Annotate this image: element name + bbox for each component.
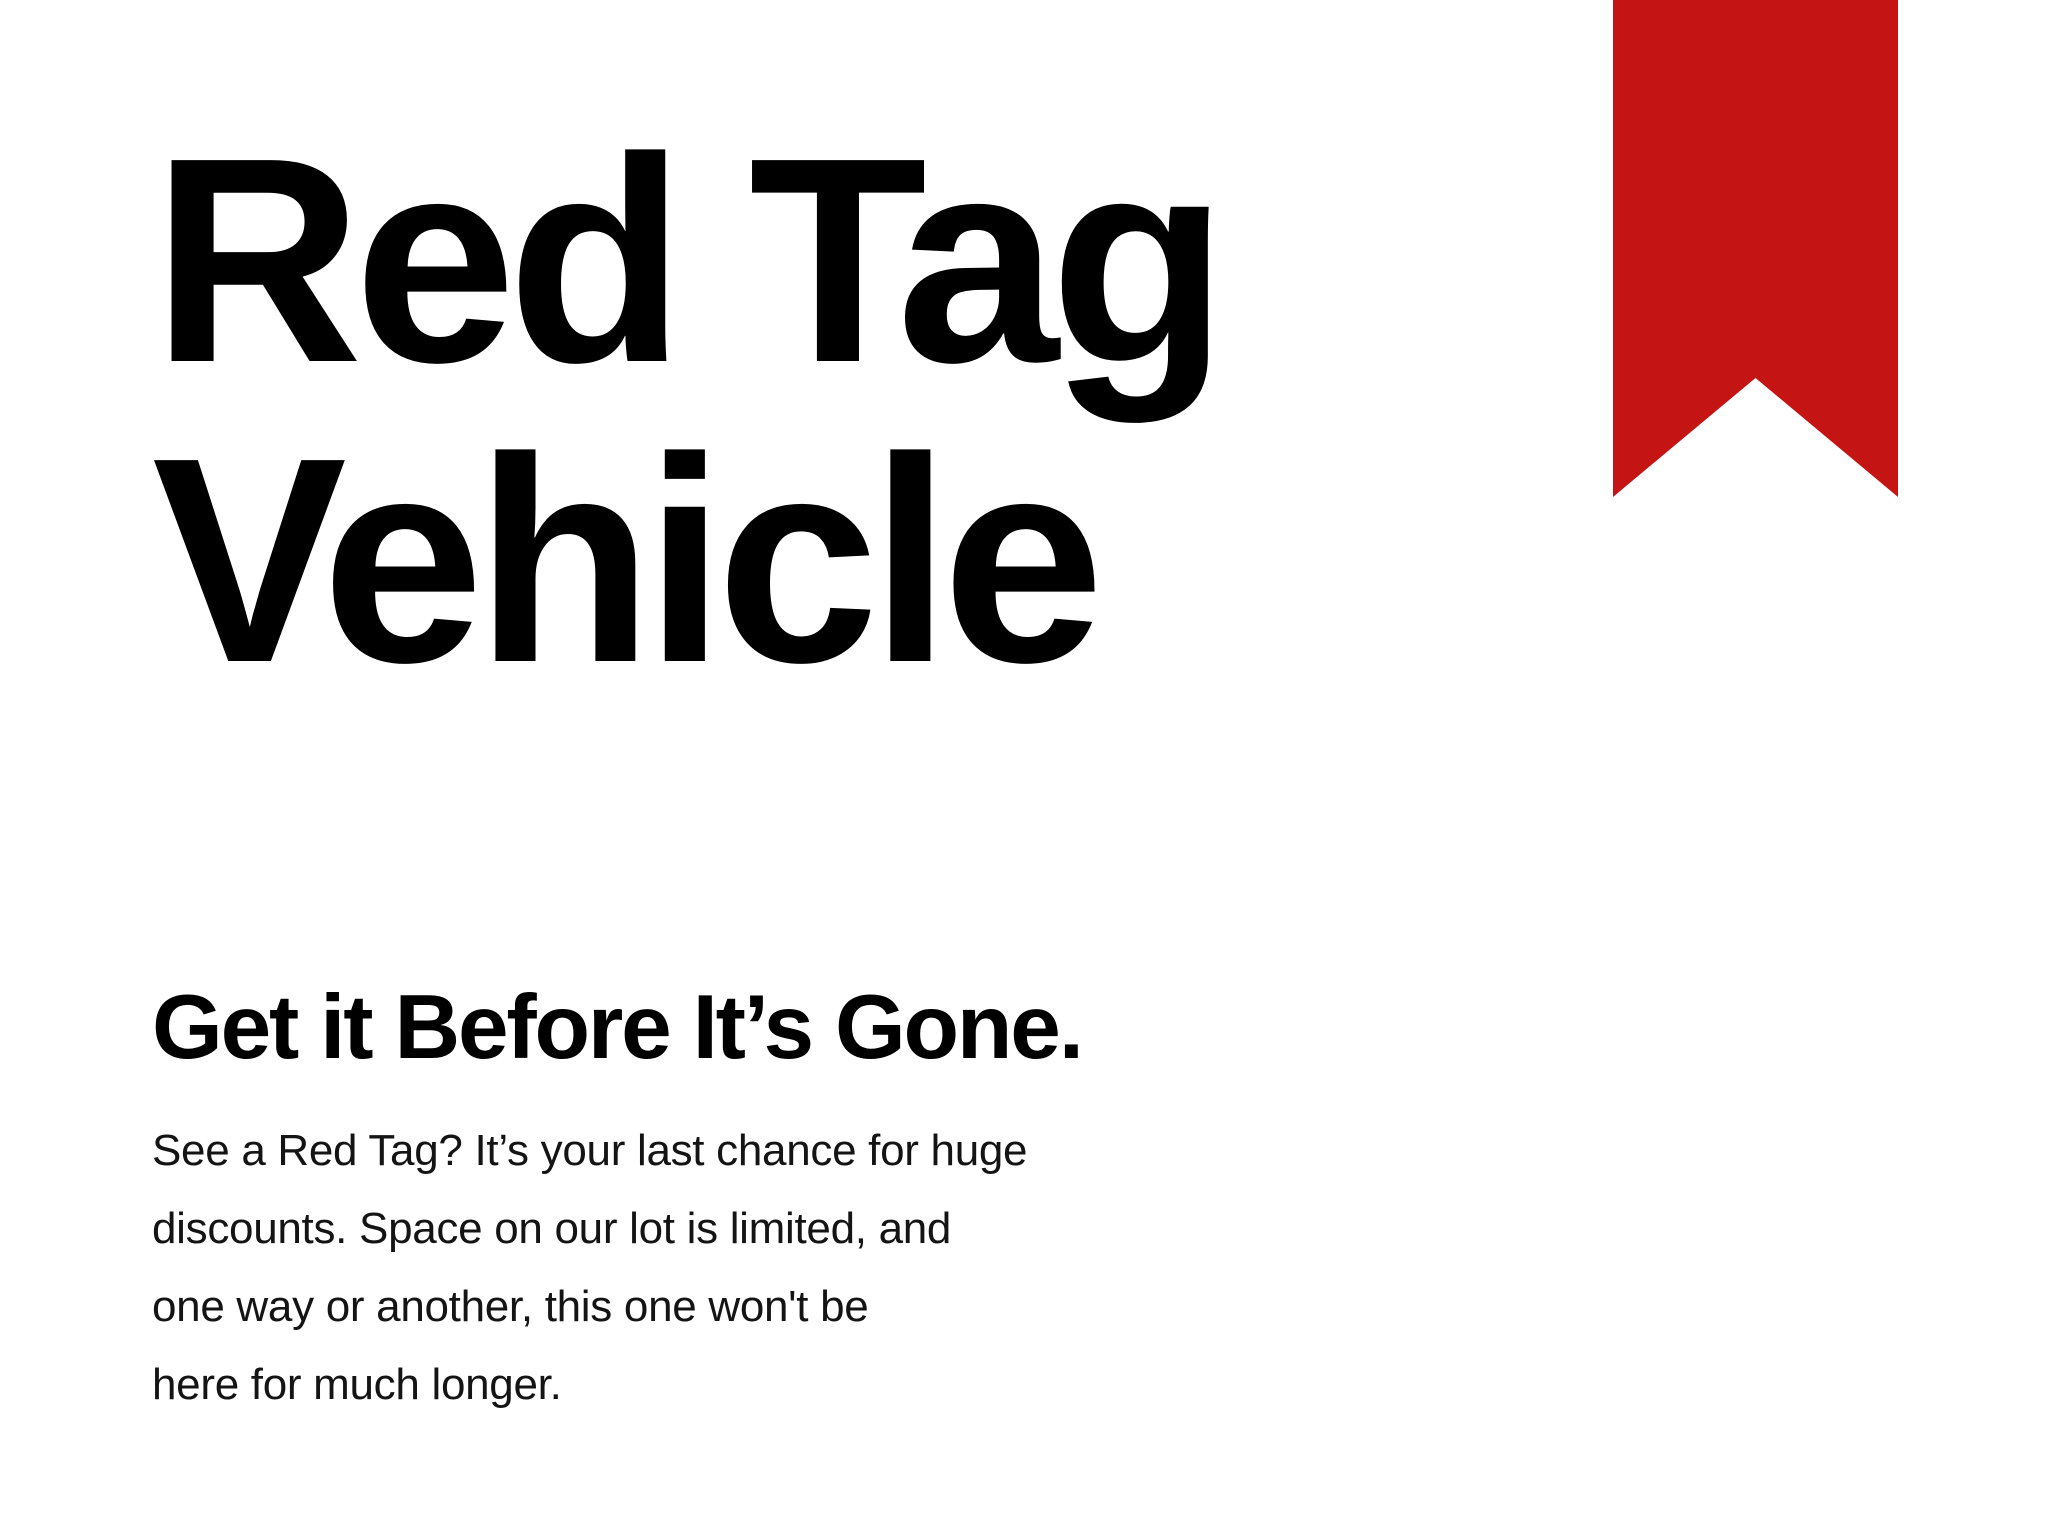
red-tag-vehicle-poster: Red Tag Vehicle Get it Before It’s Gone.… — [0, 0, 2048, 1536]
subheading: Get it Before It’s Gone. — [152, 978, 1082, 1078]
body-line-1: See a Red Tag? It’s your last chance for… — [152, 1112, 1352, 1190]
body-line-3: one way or another, this one won't be — [152, 1268, 1352, 1346]
body-line-4: here for much longer. — [152, 1346, 1352, 1424]
ribbon-bookmark-icon — [1613, 0, 1898, 497]
body-line-2: discounts. Space on our lot is limited, … — [152, 1190, 1352, 1268]
page-title: Red Tag Vehicle — [152, 110, 1552, 710]
red-ribbon-graphic — [1613, 0, 1898, 497]
headline-line-2: Vehicle — [152, 410, 1552, 710]
headline-line-1: Red Tag — [152, 110, 1552, 410]
body-paragraph: See a Red Tag? It’s your last chance for… — [152, 1112, 1352, 1424]
